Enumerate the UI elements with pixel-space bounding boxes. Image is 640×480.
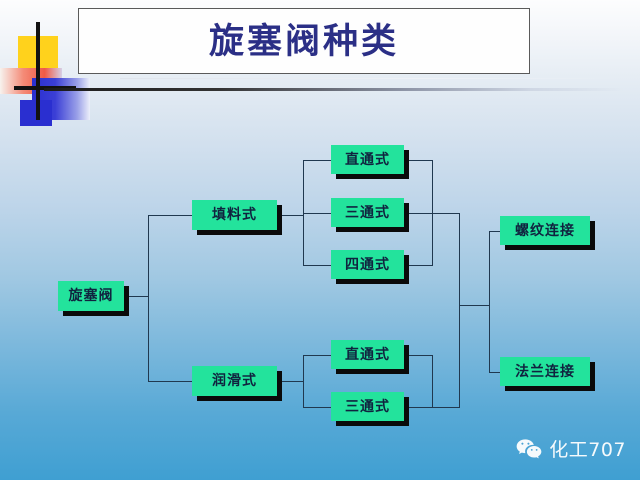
connector-packed-out [278, 215, 304, 216]
connector-spine-level1 [148, 215, 149, 381]
connector-to-packed-three [303, 213, 331, 214]
connector-trunk-bottom-in [432, 407, 460, 408]
watermark-label: 化工707 [549, 435, 626, 462]
node-root-label: 旋塞阀 [69, 289, 114, 303]
node-packed-straight-label: 直通式 [345, 153, 390, 167]
connector-lub-straight-out [405, 355, 433, 356]
node-lubricated-label: 润滑式 [212, 374, 257, 388]
connector-lubricated-out [278, 381, 304, 382]
connector-packed-straight-out [405, 160, 433, 161]
connector-to-lub-straight [303, 355, 331, 356]
wechat-icon [516, 438, 542, 460]
node-thread[interactable]: 螺纹连接 [500, 216, 590, 245]
connector-packed-four-out [405, 265, 433, 266]
connector-to-lubricated [148, 381, 192, 382]
node-lub-three[interactable]: 三通式 [331, 392, 404, 421]
node-lubricated[interactable]: 润滑式 [192, 366, 277, 396]
node-flange[interactable]: 法兰连接 [500, 357, 590, 386]
connector-spine-right [489, 231, 490, 373]
node-flange-label: 法兰连接 [515, 365, 575, 379]
node-thread-label: 螺纹连接 [515, 224, 575, 238]
connector-trunk-tap [459, 305, 490, 306]
node-packed-three[interactable]: 三通式 [331, 198, 404, 227]
connector-to-packed-four [303, 265, 331, 266]
connector-merge-lubricated [432, 355, 433, 408]
node-packed-label: 填料式 [212, 208, 257, 222]
node-lub-straight-label: 直通式 [345, 348, 390, 362]
node-root[interactable]: 旋塞阀 [58, 281, 124, 311]
connector-to-lub-three [303, 407, 331, 408]
flowchart: 旋塞阀 填料式 润滑式 直通式 三通式 四通式 直通式 三通式 螺纹连接 法兰连… [0, 0, 640, 480]
node-lub-straight[interactable]: 直通式 [331, 340, 404, 369]
connector-to-packed-straight [303, 160, 331, 161]
watermark: 化工707 [516, 435, 626, 462]
node-packed-straight[interactable]: 直通式 [331, 145, 404, 174]
node-packed-four-label: 四通式 [345, 258, 390, 272]
node-lub-three-label: 三通式 [345, 400, 390, 414]
connector-root-out [125, 296, 149, 297]
node-packed[interactable]: 填料式 [192, 200, 277, 230]
node-packed-four[interactable]: 四通式 [331, 250, 404, 279]
connector-trunk-vertical [459, 213, 460, 407]
connector-trunk-top-in [432, 213, 460, 214]
connector-to-packed [148, 215, 192, 216]
connector-spine-lubricated [303, 355, 304, 407]
node-packed-three-label: 三通式 [345, 206, 390, 220]
slide-canvas: 旋塞阀种类 [0, 0, 640, 480]
connector-lub-three-out [405, 407, 433, 408]
